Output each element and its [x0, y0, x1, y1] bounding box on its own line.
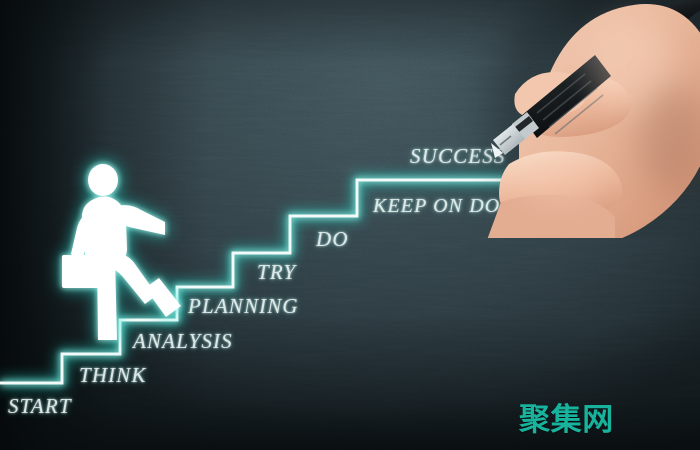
watermark: 聚集网 [519, 405, 614, 436]
step-label-do: DO [316, 229, 349, 250]
step-label-try: TRY [257, 262, 296, 283]
step-label-start: START [8, 396, 72, 417]
step-label-think: THINK [79, 365, 147, 386]
step-label-planning: PLANNING [188, 296, 299, 317]
chalkboard-scene: START THINK ANALYSIS PLANNING TRY DO KEE… [0, 0, 700, 450]
step-label-analysis: ANALYSIS [133, 331, 233, 352]
hand-holding-pen [455, 0, 700, 238]
